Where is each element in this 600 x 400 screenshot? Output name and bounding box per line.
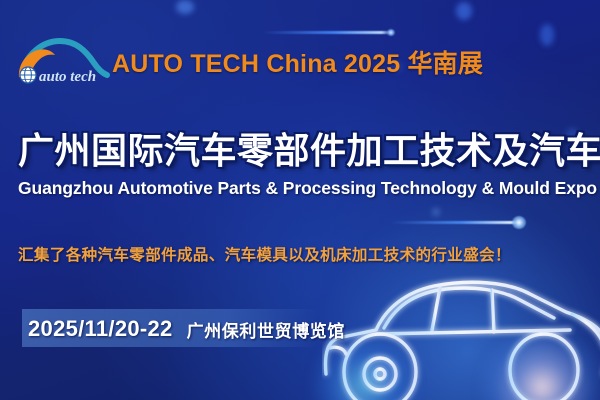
header-title: AUTO TECH China 2025 华南展 (112, 44, 483, 80)
glow-dot-icon (540, 24, 554, 46)
event-venue: 广州保利世贸博览馆 (187, 317, 345, 342)
page-title: 广州国际汽车零部件加工技术及汽车模具展览会 (18, 122, 600, 174)
glow-dot-icon (456, 2, 472, 20)
light-streak-icon (390, 221, 520, 224)
svg-text:auto tech: auto tech (39, 69, 96, 85)
car-taillight-glow-icon (472, 332, 600, 400)
car-headlight-glow-icon (304, 336, 424, 400)
glow-dot-icon (176, 0, 194, 14)
glow-dot-icon (432, 208, 440, 216)
auto-tech-logo: auto tech (8, 33, 116, 85)
event-date: 2025/11/20-22 (28, 316, 173, 342)
tagline: 汇集了各种汽车零部件成品、汽车模具以及机床加工技术的行业盛会！ (18, 243, 511, 265)
date-venue-row: 2025/11/20-22 广州保利世贸博览馆 (28, 313, 345, 345)
exhibition-banner: auto tech AUTO TECH China 2025 华南展 广州国际汽… (0, 0, 600, 400)
light-streak-icon (262, 31, 392, 34)
glowing-car-wireframe (322, 252, 600, 400)
subtitle-english: Guangzhou Automotive Parts & Processing … (18, 178, 600, 199)
